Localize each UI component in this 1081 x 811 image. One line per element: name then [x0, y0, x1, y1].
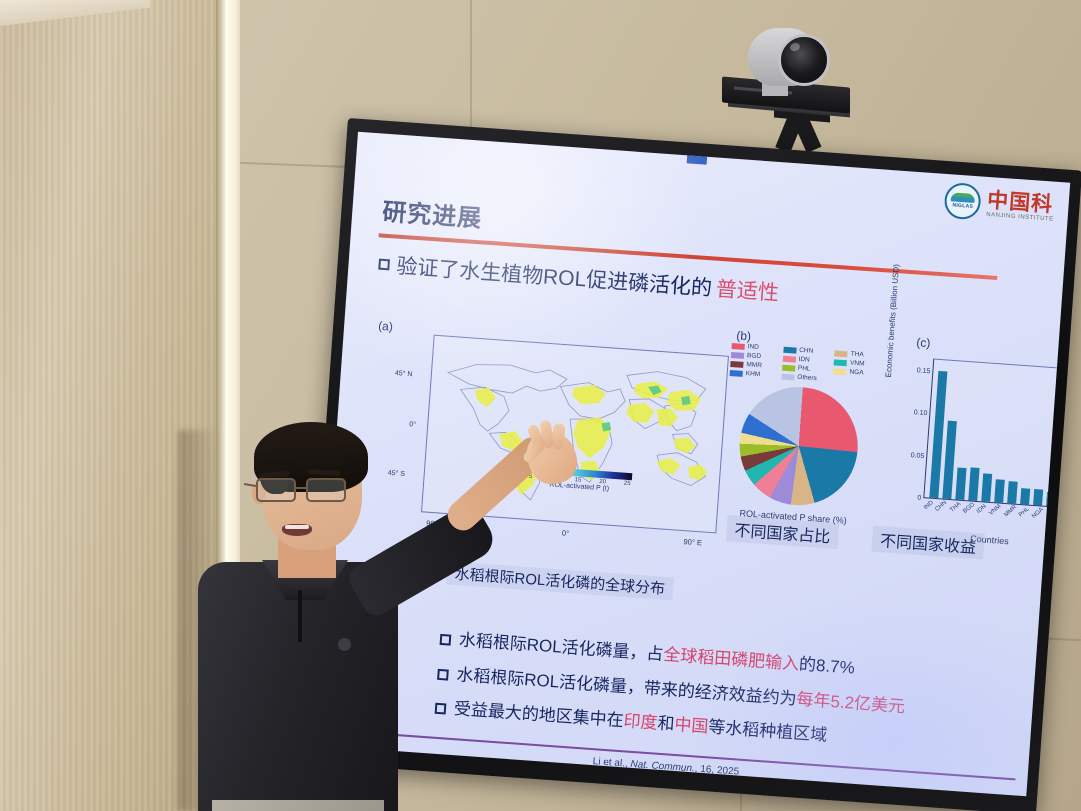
legend-label: PHL — [798, 365, 811, 373]
bar-xtick: IND — [923, 500, 935, 511]
footer-journal: Nat. Commun. — [630, 759, 695, 775]
bar-xtick: CHN — [935, 500, 949, 513]
footer-authors: Li et al., — [592, 756, 628, 769]
bar — [981, 473, 992, 502]
legend-swatch — [782, 355, 795, 362]
legend-label: Others — [797, 374, 817, 382]
presenter-hand — [522, 426, 582, 489]
bullet-3-tail: 等水稻种植区域 — [708, 717, 828, 744]
bar-ytick: 0.10 — [914, 409, 931, 417]
glasses-right-lens — [306, 478, 346, 502]
legend-swatch — [730, 360, 743, 367]
niglas-wave-glyph — [951, 192, 976, 203]
bar-ytick: 0 — [917, 495, 924, 502]
bar — [1046, 492, 1056, 507]
panel-a-tag: (a) — [378, 319, 394, 334]
bar — [968, 468, 979, 501]
presenter-person — [190, 420, 580, 811]
bar-ytick: 0.05 — [910, 452, 927, 460]
bar-xtick: PHL — [1018, 506, 1031, 518]
pie-legend: IND CHN THA BGD IDN VNM MMR PHL NGA KHM — [730, 342, 882, 387]
conference-room-scene: NIGLAS 中国科 NANJING INSTITUTE 研究进展 验证了水生植… — [0, 0, 1081, 811]
legend-swatch — [834, 359, 847, 366]
presenter-trousers — [212, 800, 384, 811]
legend-swatch — [833, 368, 846, 375]
headline-accent: 普适性 — [715, 273, 780, 307]
legend-label: BGD — [747, 352, 762, 360]
cas-logo: 中国科 NANJING INSTITUTE — [986, 188, 1055, 222]
panel-b-tag: (b) — [736, 328, 752, 343]
legend-swatch — [782, 364, 795, 371]
bar-ytick: 0.15 — [917, 367, 934, 375]
bar — [1020, 488, 1030, 504]
legend-swatch — [730, 369, 743, 376]
legend-label: KHM — [745, 370, 760, 378]
slide-logos: NIGLAS 中国科 NANJING INSTITUTE — [944, 182, 1056, 226]
pie-chart — [735, 383, 861, 509]
presenter-mouth — [282, 524, 312, 536]
presenter-placket — [298, 590, 302, 642]
bullet-3-mid: 和 — [657, 714, 675, 734]
bar — [994, 480, 1005, 503]
presenter-glasses — [250, 478, 368, 504]
legend-label: NGA — [849, 369, 864, 377]
bullet-1-tail: 的8.7% — [798, 655, 855, 678]
niglas-logo-text: NIGLAS — [952, 202, 973, 209]
glasses-left-lens — [256, 478, 296, 502]
bar-xtick: THA — [949, 501, 962, 513]
bullet-1-accent: 全球稻田磷肥输入 — [663, 645, 800, 674]
bar-plot-area: 0 0.05 0.10 0.15 — [923, 358, 1070, 508]
presenter-shirt-logo — [338, 638, 351, 651]
headline-main: 验证了水生植物ROL促进磷活化的 — [396, 250, 714, 303]
glasses-temple — [244, 483, 256, 487]
panel-c-tag: (c) — [916, 335, 931, 350]
glasses-bridge — [296, 487, 308, 489]
bar-xtick: IDN — [976, 504, 988, 515]
legend-label: CHN — [799, 347, 814, 355]
niglas-logo-icon: NIGLAS — [944, 182, 982, 220]
legend-swatch — [731, 352, 744, 359]
bar — [1033, 489, 1043, 505]
bar — [955, 468, 966, 500]
legend-swatch — [783, 346, 796, 353]
presenter-finger — [551, 423, 566, 450]
bullet-3-accent: 印度 — [623, 711, 658, 732]
legend-label: THA — [850, 351, 863, 359]
legend-label: IDN — [798, 356, 810, 364]
camera-body — [748, 28, 818, 86]
bullet-2-accent: 每年5.2亿美元 — [796, 689, 906, 716]
legend-item: NGA — [833, 367, 880, 377]
map-xtick-90e: 90° E — [683, 537, 702, 547]
legend-label: VNM — [850, 360, 865, 368]
bullet-3-accent2: 中国 — [674, 715, 709, 736]
bar-xtick: MMR — [1003, 504, 1018, 518]
bar-xtick: BGD — [962, 502, 976, 515]
bar-xtick: KHM — [1046, 508, 1060, 521]
bullet-square-icon — [378, 258, 390, 270]
camera-lens-icon — [778, 34, 830, 86]
legend-label: MMR — [746, 361, 762, 369]
legend-item: Others — [781, 373, 828, 383]
bar-series — [924, 360, 1070, 507]
cas-logo-cn: 中国科 — [987, 188, 1056, 214]
legend-label: IND — [747, 343, 759, 351]
footer-volyear: , 16, 2025 — [694, 763, 739, 777]
ptz-camera — [722, 24, 872, 154]
map-ytick-45n: 45° N — [395, 370, 413, 378]
legend-swatch — [732, 343, 745, 350]
legend-item: KHM — [730, 369, 777, 379]
bar-xtick: VNM — [988, 504, 1002, 517]
legend-swatch — [835, 350, 848, 357]
colorbar-tick: 25 — [624, 481, 631, 487]
legend-swatch — [781, 373, 794, 380]
bar-xtick: NGA — [1032, 507, 1046, 520]
bar — [1007, 481, 1018, 503]
bar — [942, 421, 957, 499]
